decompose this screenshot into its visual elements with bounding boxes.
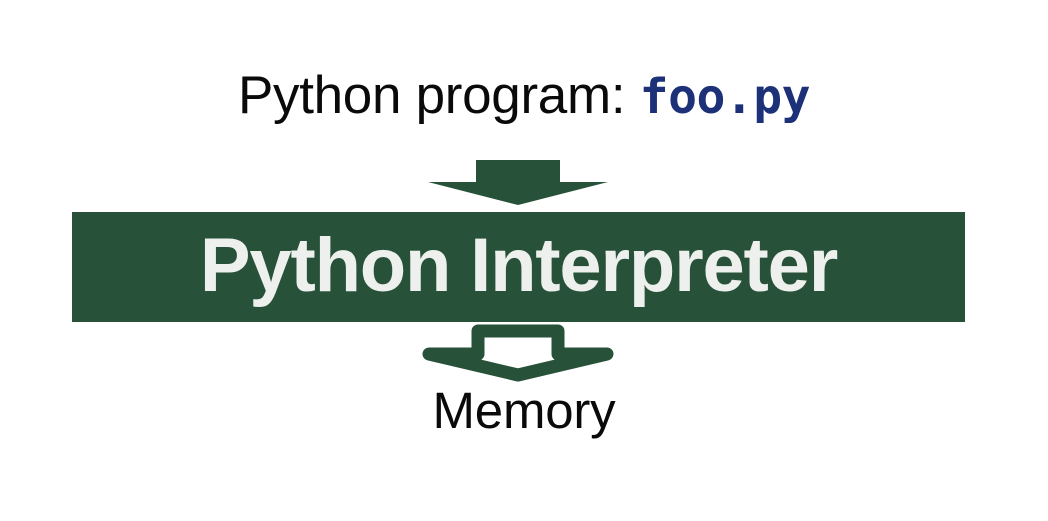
source-program-heading: Python program: foo.py <box>0 69 1048 122</box>
down-arrow-filled-icon <box>428 160 608 205</box>
source-program-filename: foo.py <box>640 69 810 125</box>
python-interpreter-label: Python Interpreter <box>200 228 837 304</box>
down-arrow-outline-icon <box>422 324 614 382</box>
diagram-canvas: Python program: foo.py Python Interprete… <box>0 0 1048 521</box>
memory-label: Memory <box>0 385 1048 436</box>
python-interpreter-block: Python Interpreter <box>72 212 965 322</box>
source-program-label: Python program: <box>238 66 640 125</box>
